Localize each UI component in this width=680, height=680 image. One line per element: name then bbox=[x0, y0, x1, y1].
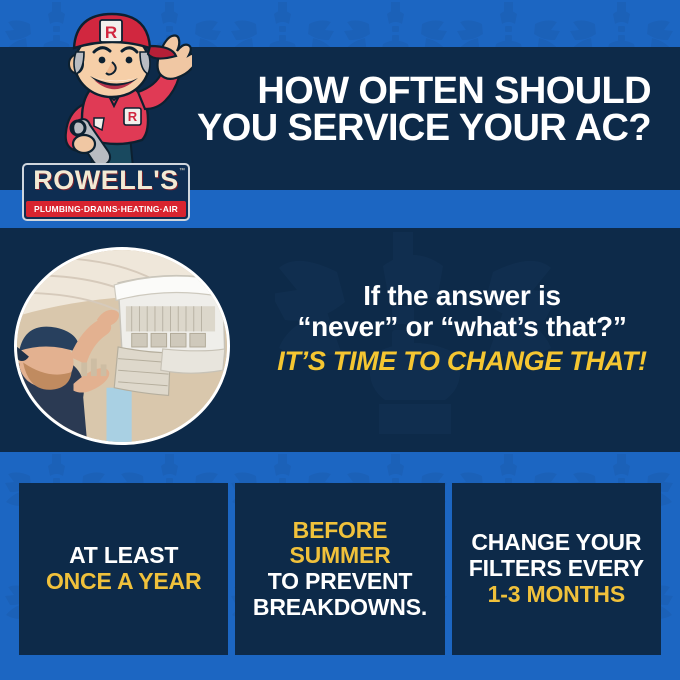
ac-service-photo bbox=[14, 247, 230, 445]
card-2-line-3: BREAKDOWNS. bbox=[243, 595, 436, 621]
card-at-least-once-a-year: AT LEAST ONCE A YEAR bbox=[19, 483, 228, 655]
svg-text:R: R bbox=[105, 23, 117, 42]
brand-logo: ROWELL'S ™ PLUMBING·DRAINS·HEATING·AIR bbox=[22, 163, 190, 221]
card-3-line-3: 1-3 MONTHS bbox=[469, 582, 644, 608]
card-3-text: CHANGE YOUR FILTERS EVERY 1-3 MONTHS bbox=[469, 530, 644, 607]
trademark-symbol: ™ bbox=[179, 168, 185, 174]
card-2-line-1: BEFORE SUMMER bbox=[243, 518, 436, 570]
card-change-your-filters: CHANGE YOUR FILTERS EVERY 1-3 MONTHS bbox=[452, 483, 661, 655]
card-2-line-2: TO PREVENT bbox=[243, 569, 436, 595]
card-1-text: AT LEAST ONCE A YEAR bbox=[46, 543, 201, 595]
card-before-summer: BEFORE SUMMER TO PREVENT BREAKDOWNS. bbox=[235, 483, 444, 655]
middle-message-line-2: “never” or “what’s that?” bbox=[262, 311, 662, 342]
page-title: HOW OFTEN SHOULD YOU SERVICE YOUR AC? bbox=[181, 73, 651, 147]
page-title-line-2: YOU SERVICE YOUR AC? bbox=[181, 110, 651, 147]
svg-text:R: R bbox=[128, 109, 138, 124]
logo-tagline: PLUMBING·DRAINS·HEATING·AIR bbox=[34, 204, 178, 214]
middle-message-line-1: If the answer is bbox=[262, 280, 662, 311]
card-3-line-1: CHANGE YOUR bbox=[469, 530, 644, 556]
page-title-line-1: HOW OFTEN SHOULD bbox=[181, 73, 651, 110]
mascot-illustration: R R bbox=[32, 8, 192, 178]
infographic-poster: HOW OFTEN SHOULD YOU SERVICE YOUR AC? R bbox=[0, 0, 680, 680]
logo-wordmark: ROWELL'S bbox=[22, 165, 190, 196]
middle-message-accent: IT’S TIME TO CHANGE THAT! bbox=[262, 346, 662, 378]
tips-card-row: AT LEAST ONCE A YEAR BEFORE SUMMER TO PR… bbox=[0, 483, 680, 655]
card-2-text: BEFORE SUMMER TO PREVENT BREAKDOWNS. bbox=[243, 518, 436, 621]
card-1-line-2: ONCE A YEAR bbox=[46, 569, 201, 595]
logo-tagline-bar: PLUMBING·DRAINS·HEATING·AIR bbox=[26, 201, 186, 217]
card-3-line-2: FILTERS EVERY bbox=[469, 556, 644, 582]
middle-message: If the answer is “never” or “what’s that… bbox=[262, 280, 662, 378]
card-1-line-1: AT LEAST bbox=[46, 543, 201, 569]
